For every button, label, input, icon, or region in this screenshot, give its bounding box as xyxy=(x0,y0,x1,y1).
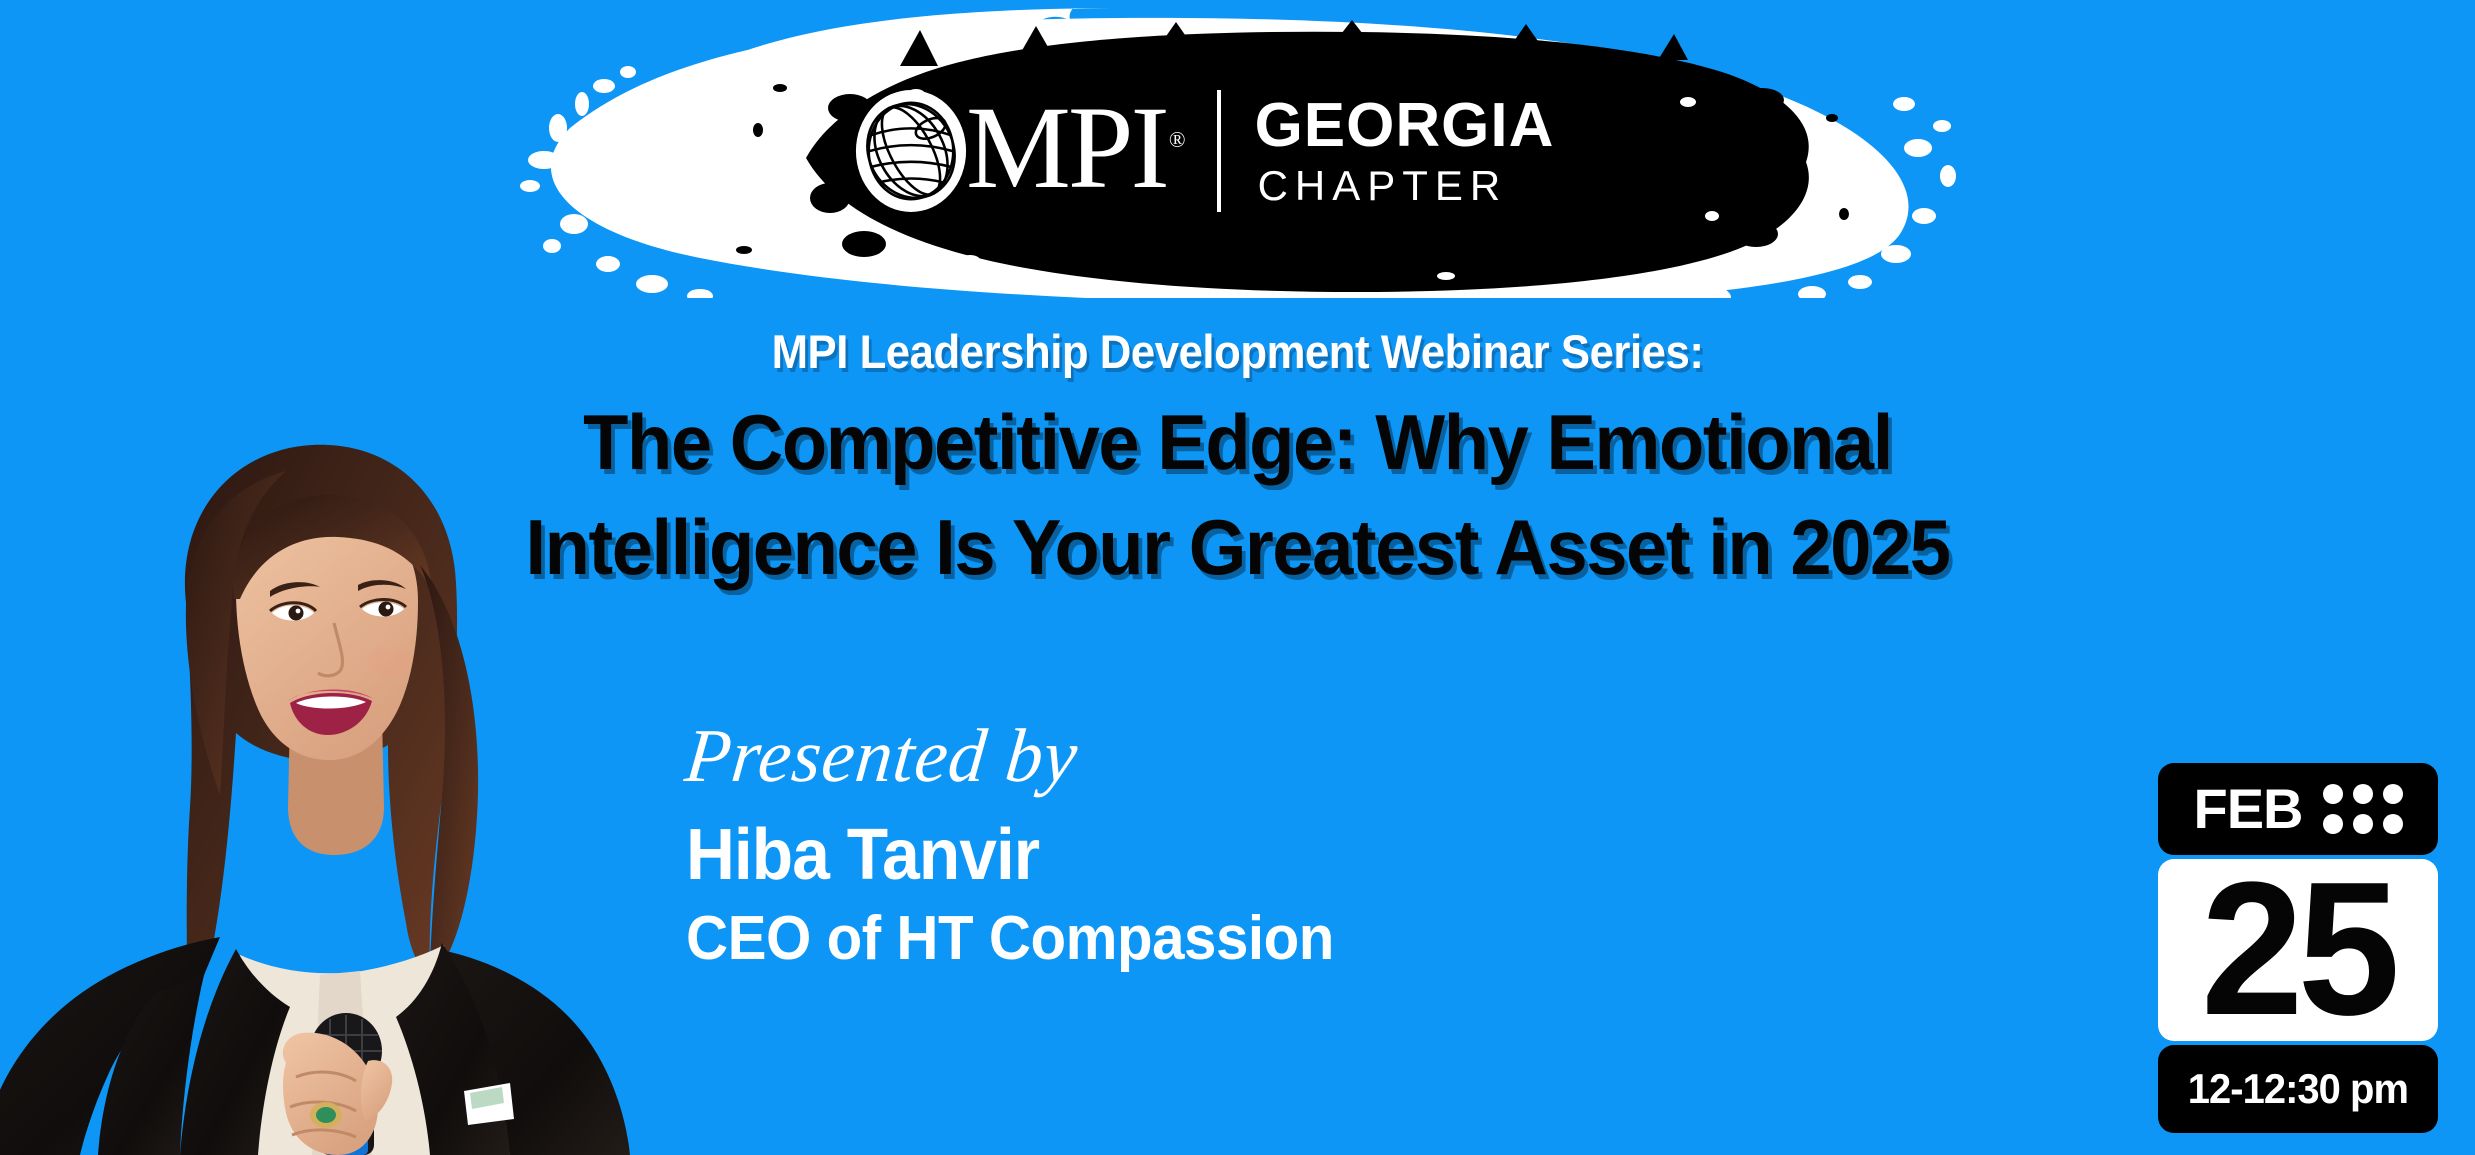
calendar-rings-icon xyxy=(2323,784,2403,834)
mpi-georgia-logo-banner: MPI® GEORGIA CHAPTER xyxy=(500,8,1970,298)
chapter-word-label: CHAPTER xyxy=(1258,165,1555,207)
date-badge-month: FEB xyxy=(2194,781,2303,837)
mpi-globe-icon xyxy=(852,88,970,214)
calendar-ring-dot xyxy=(2323,814,2343,834)
date-badge-time-bar: 12-12:30 pm xyxy=(2158,1045,2438,1133)
speaker-portrait-illustration xyxy=(0,415,650,1155)
logo-divider xyxy=(1217,90,1221,212)
date-badge-month-bar: FEB xyxy=(2158,763,2438,855)
mpi-brand-wordmark: MPI® xyxy=(966,89,1183,207)
mpi-logo-lockup: MPI® GEORGIA CHAPTER xyxy=(852,86,1622,216)
calendar-ring-dot xyxy=(2353,784,2373,804)
calendar-ring-dot xyxy=(2383,784,2403,804)
presenter-name: Hiba Tanvir xyxy=(686,818,1334,894)
date-badge: FEB 25 12-12:30 pm xyxy=(2158,763,2438,1133)
registered-mark-icon: ® xyxy=(1169,127,1183,152)
presenter-block: Presented by Hiba Tanvir CEO of HT Compa… xyxy=(686,718,1375,973)
speaker-photo xyxy=(0,415,650,1155)
presented-by-label: Presented by xyxy=(682,718,1359,794)
webinar-promo-banner: MPI® GEORGIA CHAPTER MPI Leadership Deve… xyxy=(0,0,2475,1155)
date-badge-day-panel: 25 xyxy=(2158,859,2438,1041)
chapter-state-label: GEORGIA xyxy=(1255,95,1555,157)
chapter-name-block: GEORGIA CHAPTER xyxy=(1255,95,1555,207)
presenter-role: CEO of HT Compassion xyxy=(686,906,1334,973)
date-badge-time: 12-12:30 pm xyxy=(2188,1068,2408,1110)
date-badge-day: 25 xyxy=(2201,872,2394,1028)
webinar-series-label: MPI Leadership Development Webinar Serie… xyxy=(87,325,2389,379)
calendar-ring-dot xyxy=(2383,814,2403,834)
calendar-ring-dot xyxy=(2353,814,2373,834)
calendar-ring-dot xyxy=(2323,784,2343,804)
